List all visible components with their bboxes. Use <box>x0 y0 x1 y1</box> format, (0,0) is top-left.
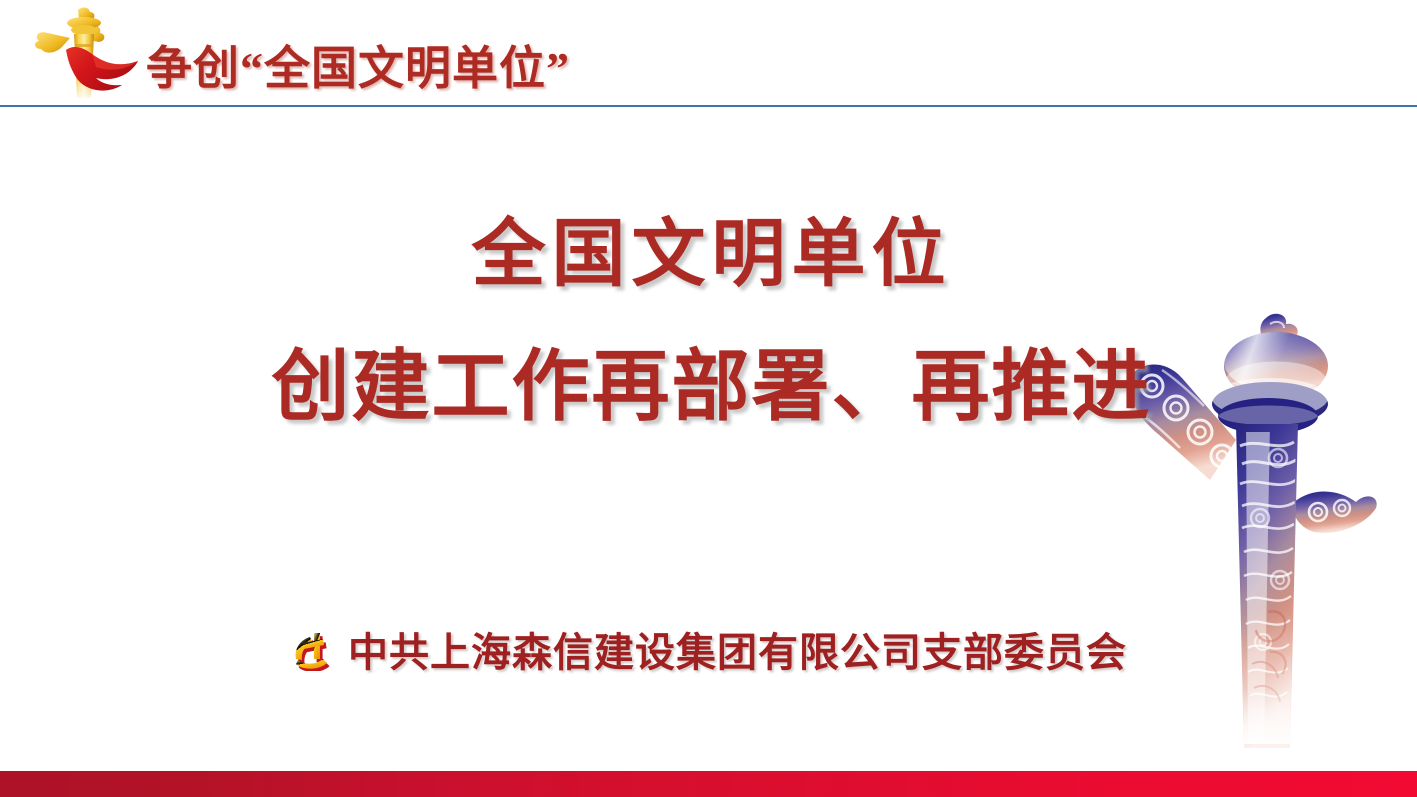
main-title-line-2: 创建工作再部署、再推进 <box>0 348 1417 426</box>
organization-name: 中共上海森信建设集团有限公司支部委员会 <box>348 620 1127 678</box>
header-title: 争创“全国文明单位” <box>146 32 570 98</box>
slide-title-block: 全国文明单位 创建工作再部署、再推进 <box>0 218 1417 426</box>
presentation-slide: 争创“全国文明单位” <box>0 0 1417 797</box>
organization-line: 中共上海森信建设集团有限公司支部委员会 <box>0 620 1417 678</box>
header-divider <box>0 105 1417 107</box>
bottom-accent-bar <box>0 771 1417 797</box>
main-title-line-1: 全国文明单位 <box>0 218 1417 292</box>
party-emblem-hammer-sickle-icon <box>290 627 336 671</box>
slide-header: 争创“全国文明单位” <box>0 0 1417 107</box>
huabiao-ribbon-logo-icon <box>26 6 146 104</box>
